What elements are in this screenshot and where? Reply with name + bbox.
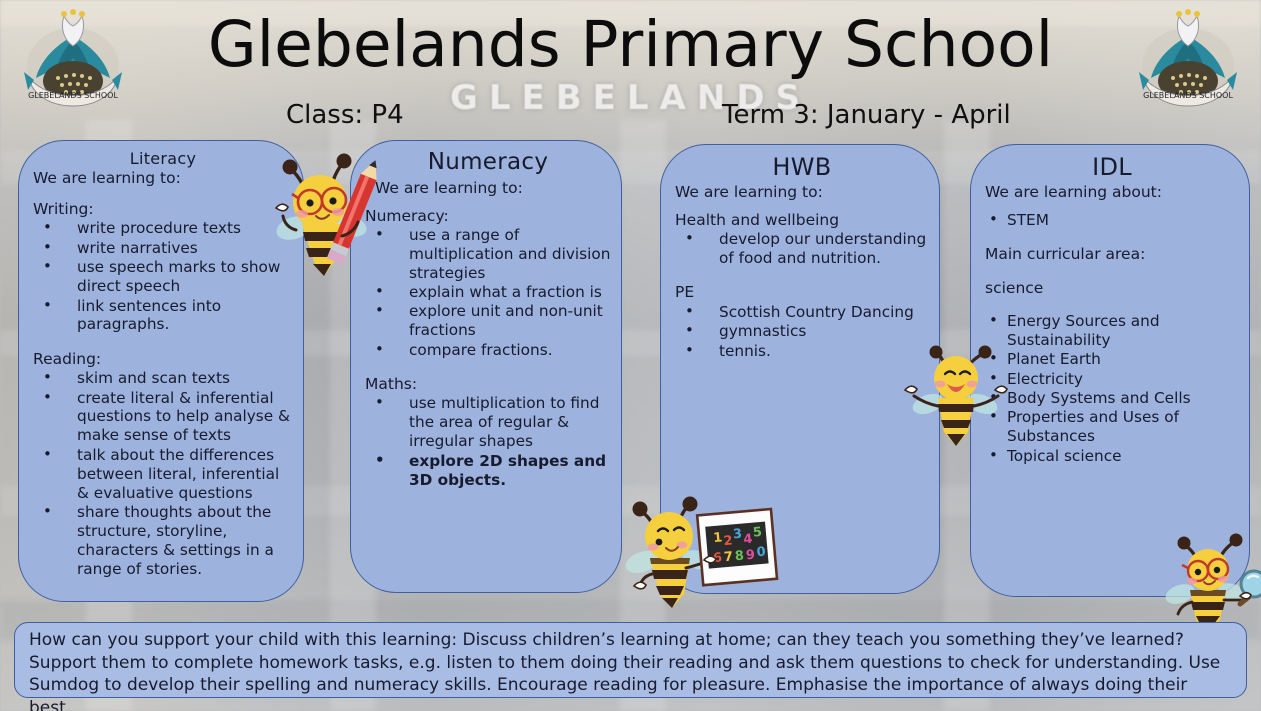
numeracy-number-list: use a range of multiplication and divisi…	[365, 226, 611, 360]
hwb-section-head: Health and wellbeing	[675, 211, 929, 230]
idl-science-list: Energy Sources and Sustainability Planet…	[985, 312, 1239, 466]
literacy-reading-list: skim and scan texts create literal & inf…	[33, 369, 293, 578]
crest-motto-text: GLEBELANDS SCHOOL	[1143, 91, 1233, 100]
list-item: Topical science	[985, 447, 1239, 466]
list-item: use multiplication to find the area of r…	[365, 394, 611, 451]
list-item: explore 2D shapes and 3D objects.	[365, 452, 611, 490]
list-item: Electricity	[985, 370, 1239, 389]
hwb-section-head: PE	[675, 283, 929, 302]
list-item: use a range of multiplication and divisi…	[365, 226, 611, 283]
list-item: Planet Earth	[985, 350, 1239, 369]
list-item: Scottish Country Dancing	[675, 303, 929, 322]
panel-numeracy: Numeracy We are learning to: Numeracy: u…	[350, 140, 622, 593]
literacy-section-head: Writing:	[33, 200, 293, 219]
list-item: write narratives	[33, 239, 293, 258]
numeracy-section-head: Numeracy:	[365, 207, 611, 226]
panel-hwb-title: HWB	[675, 153, 929, 182]
idl-stem-list: STEM	[985, 211, 1239, 230]
panel-numeracy-title: Numeracy	[365, 149, 611, 177]
board-digit: 9	[745, 548, 755, 564]
list-item: link sentences into paragraphs.	[33, 297, 293, 335]
list-item: share thoughts about the structure, stor…	[33, 503, 293, 579]
school-crest-left-icon: GLEBELANDS SCHOOL	[14, 6, 132, 110]
idl-curricular-area: science	[985, 279, 1239, 298]
list-item: write procedure texts	[33, 219, 293, 238]
numeracy-maths-list: use multiplication to find the area of r…	[365, 394, 611, 489]
board-digit: 2	[723, 533, 733, 549]
panel-literacy-title: Literacy	[33, 149, 293, 168]
poster-root: GLEBELANDS	[0, 0, 1261, 711]
crest-motto-text: GLEBELANDS SCHOOL	[28, 91, 118, 100]
panel-idl-title: IDL	[985, 153, 1239, 182]
board-digit: 3	[732, 527, 742, 543]
list-item: Properties and Uses of Substances	[985, 408, 1239, 446]
literacy-writing-list: write procedure texts write narratives u…	[33, 219, 293, 334]
bee-with-number-board-icon: 1 2 3 4 5 6 7 8 9 0	[628, 498, 778, 612]
list-item: Body Systems and Cells	[985, 389, 1239, 408]
literacy-section-head: Reading:	[33, 350, 293, 369]
class-label: Class: P4	[286, 100, 404, 130]
school-crest-right-icon: GLEBELANDS SCHOOL	[1129, 6, 1247, 110]
list-item: STEM	[985, 211, 1239, 230]
list-item: Energy Sources and Sustainability	[985, 312, 1239, 350]
board-digit: 5	[752, 525, 762, 541]
list-item: explain what a fraction is	[365, 283, 611, 302]
list-item: compare fractions.	[365, 341, 611, 360]
bee-with-magnifying-glass-icon	[1166, 538, 1261, 634]
board-digit: 0	[756, 545, 766, 561]
list-item: gymnastics	[675, 322, 929, 341]
page-title: Glebelands Primary School	[150, 12, 1111, 78]
panel-numeracy-lead: We are learning to:	[365, 179, 611, 198]
parent-support-banner: How can you support your child with this…	[14, 622, 1247, 698]
list-item: skim and scan texts	[33, 369, 293, 388]
idl-curricular-head: Main curricular area:	[985, 245, 1239, 264]
board-digit: 8	[734, 549, 744, 565]
board-digit: 7	[723, 550, 733, 566]
bee-cheering-icon	[902, 348, 1010, 450]
panel-idl: IDL We are learning about: STEM Main cur…	[970, 144, 1250, 597]
list-item: talk about the differences between liter…	[33, 446, 293, 503]
poster-header: GLEBELANDS SCHOOL Glebelands Primary Sch…	[0, 0, 1261, 136]
list-item: use speech marks to show direct speech	[33, 258, 293, 296]
panel-literacy-lead: We are learning to:	[33, 169, 293, 188]
list-item: create literal & inferential questions t…	[33, 389, 293, 446]
list-item: explore unit and non-unit fractions	[365, 302, 611, 340]
panel-idl-lead: We are learning about:	[985, 183, 1239, 202]
panel-hwb-lead: We are learning to:	[675, 183, 929, 202]
hwb-health-list: develop our understanding of food and nu…	[675, 230, 929, 268]
board-digit: 4	[743, 532, 753, 548]
numeracy-section-head: Maths:	[365, 375, 611, 394]
term-label: Term 3: January - April	[722, 100, 1011, 130]
bee-with-pencil-icon	[272, 152, 380, 284]
list-item: develop our understanding of food and nu…	[675, 230, 929, 268]
hwb-pe-list: Scottish Country Dancing gymnastics tenn…	[675, 303, 929, 361]
board-digit: 1	[713, 530, 723, 546]
list-item: tennis.	[675, 342, 929, 361]
panel-literacy: Literacy We are learning to: Writing: wr…	[18, 140, 304, 602]
